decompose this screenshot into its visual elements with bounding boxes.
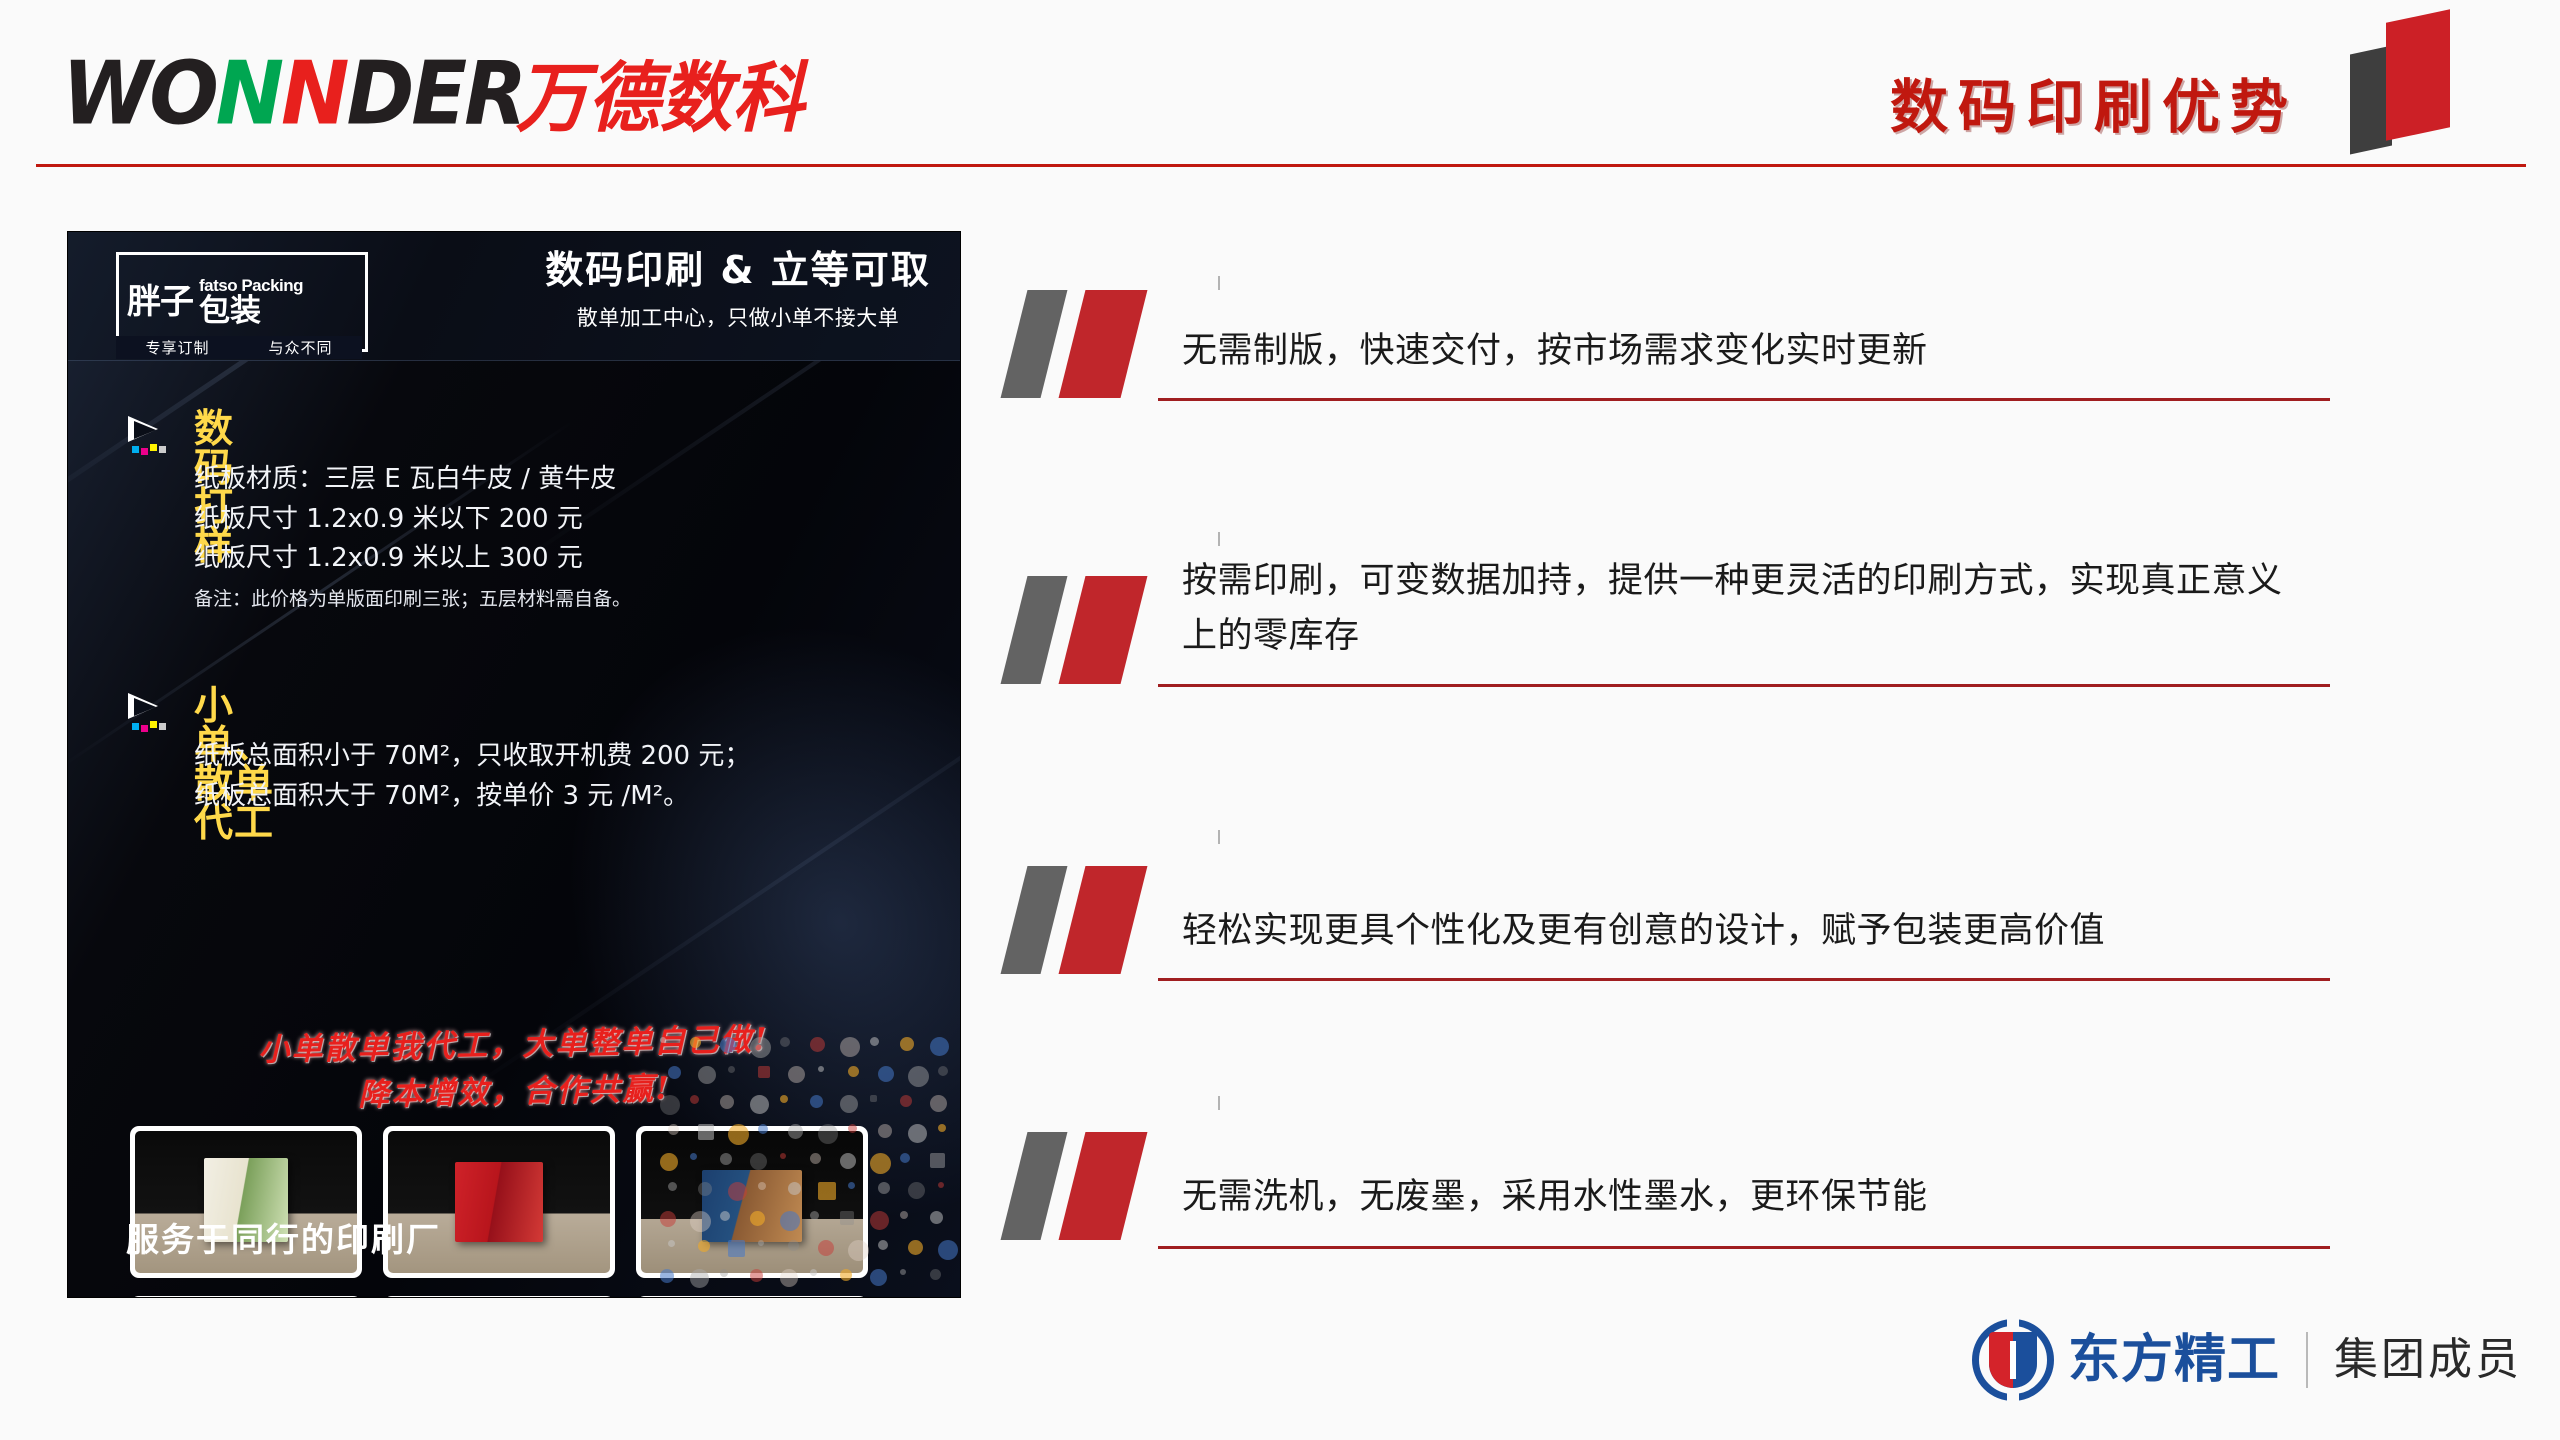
product-photo	[130, 1296, 362, 1297]
group-footer-logo: 东方精工 集团成员	[1972, 1318, 2522, 1402]
section-line: 纸板总面积小于 70M²，只收取开机费 200 元；	[194, 737, 750, 777]
bullet-gray-bar	[1001, 290, 1068, 398]
cmyk-dot-yellow	[150, 444, 157, 451]
section-line: 纸板材质：三层 E 瓦白牛皮 / 黄牛皮	[194, 460, 631, 500]
brand-chinese-name: 万德数科	[516, 60, 804, 136]
advantage-bullet-icon	[1010, 1132, 1180, 1242]
cmyk-dot-yellow	[150, 721, 157, 728]
fatso-tagline-right: 与众不同	[268, 337, 332, 358]
cmyk-dot-cyan	[132, 723, 139, 730]
advantage-text: 无需洗机，无废墨，采用水性墨水，更环保节能	[1182, 1170, 2312, 1225]
cmyk-dot-magenta	[141, 448, 148, 455]
poster-header-band: 胖子 fatso Packing 包装 专享订制 与众不同 数码印刷 & 立等可…	[68, 232, 960, 361]
bullet-red-bar	[1059, 1132, 1148, 1240]
corner-decoration-icon	[2342, 8, 2472, 158]
fatso-logo-tagline: 专享订制 与众不同	[116, 336, 362, 359]
footer-divider	[2306, 1332, 2308, 1388]
header-divider	[36, 164, 2526, 167]
advantage-bullet-icon	[1010, 290, 1180, 400]
chevron-arrow-icon	[128, 691, 184, 731]
advantage-underline	[1158, 978, 2330, 981]
section-line: 纸板尺寸 1.2x0.9 米以下 200 元	[194, 500, 631, 540]
cmyk-dot-key	[159, 723, 166, 730]
poster-footer-text: 服务于同行的印刷厂	[126, 1213, 441, 1261]
cmyk-dot-key	[159, 446, 166, 453]
product-photo	[383, 1296, 615, 1297]
page-title: 数码印刷优势	[1890, 60, 2298, 144]
cmyk-dot-cyan	[132, 446, 139, 453]
bullet-red-bar	[1059, 576, 1148, 684]
section-line: 纸板尺寸 1.2x0.9 米以上 300 元	[194, 539, 631, 579]
advantage-bullet-icon	[1010, 576, 1180, 686]
poster-headline-group: 数码印刷 & 立等可取 散单加工中心，只做小单不接大单	[538, 250, 938, 332]
wonder-brand-logo: WONNDER 万德数科	[62, 48, 804, 136]
wonder-wordmark-part-2: DER	[346, 44, 524, 145]
bullet-gray-bar	[1001, 866, 1068, 974]
advantage-underline	[1158, 398, 2330, 401]
cmyk-dot-magenta	[141, 725, 148, 732]
tick-mark	[1218, 830, 1220, 844]
poster-subheadline: 散单加工中心，只做小单不接大单	[538, 302, 938, 332]
tick-mark	[1218, 276, 1220, 290]
fatso-logo-cn2: 包装	[199, 296, 303, 327]
advantage-bullet-icon	[1010, 866, 1180, 976]
fatso-tagline-left: 专享订制	[145, 337, 209, 358]
section-line: 纸板总面积大于 70M²，按单价 3 元 /M²。	[194, 777, 750, 817]
tick-mark	[1218, 532, 1220, 546]
advantage-text: 按需印刷，可变数据加持，提供一种更灵活的印刷方式，实现真正意义上的零库存	[1182, 554, 2312, 665]
poster-bokeh-pattern	[660, 1037, 960, 1297]
fatso-logo-en: fatso Packing	[199, 277, 303, 294]
wonder-wordmark: WONNDER	[62, 53, 524, 136]
advantage-text: 轻松实现更具个性化及更有创意的设计，赋予包装更高价值	[1182, 904, 2312, 959]
group-name: 东方精工	[2068, 1334, 2280, 1386]
section-note: 备注：此价格为单版面印刷三张；五层材料需自备。	[194, 585, 631, 614]
bullet-red-bar	[1059, 866, 1148, 974]
advantage-underline	[1158, 684, 2330, 687]
chevron-arrow-icon	[128, 414, 184, 454]
section-body: 纸板总面积小于 70M²，只收取开机费 200 元； 纸板总面积大于 70M²，…	[194, 737, 750, 816]
tick-mark	[1218, 1096, 1220, 1110]
promo-poster: 胖子 fatso Packing 包装 专享订制 与众不同 数码印刷 & 立等可…	[68, 232, 960, 1297]
wonder-wordmark-n-red: N	[281, 44, 346, 145]
fatso-logo-cn: 胖子	[127, 285, 193, 319]
bullet-red-bar	[1059, 290, 1148, 398]
corner-red-shape	[2386, 9, 2450, 141]
dongfang-shield-icon	[1972, 1319, 2054, 1401]
bullet-gray-bar	[1001, 576, 1068, 684]
group-role: 集团成员	[2334, 1338, 2522, 1382]
bullet-gray-bar	[1001, 1132, 1068, 1240]
poster-headline: 数码印刷 & 立等可取	[538, 250, 938, 292]
advantage-text: 无需制版，快速交付，按市场需求变化实时更新	[1182, 324, 2312, 379]
page-header: WONNDER 万德数科 数码印刷优势	[0, 0, 2560, 168]
section-body: 纸板材质：三层 E 瓦白牛皮 / 黄牛皮 纸板尺寸 1.2x0.9 米以下 20…	[194, 460, 631, 613]
advantage-underline	[1158, 1246, 2330, 1249]
wonder-wordmark-part-1: WO	[62, 44, 216, 145]
wonder-wordmark-n-green: N	[216, 44, 281, 145]
